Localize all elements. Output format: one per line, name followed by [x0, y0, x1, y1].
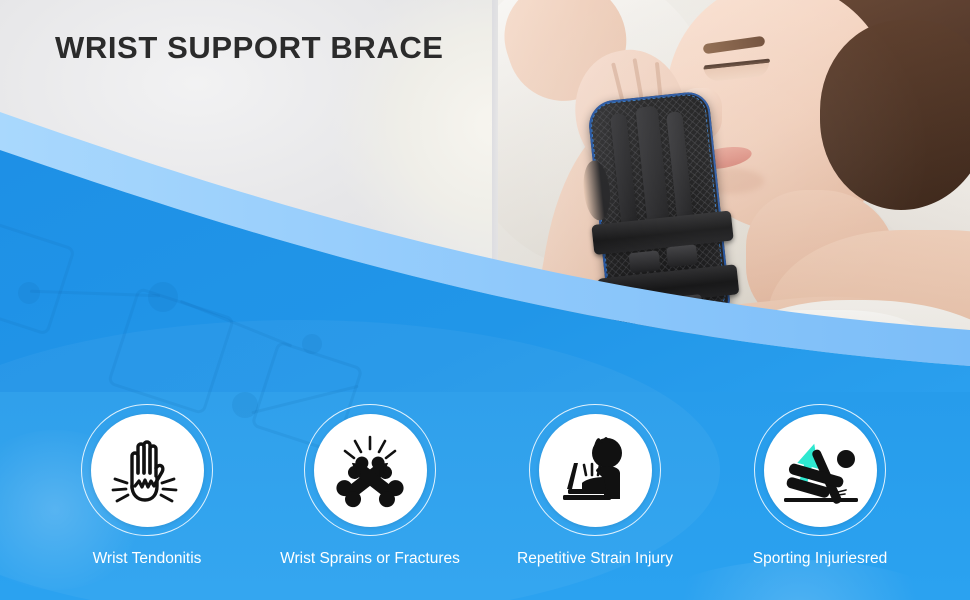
feature-item-wrist-sprains[interactable]: Wrist Sprains or Fractures [258, 404, 482, 568]
feature-label-1: Wrist Tendonitis [35, 550, 259, 568]
hand-pain-icon [105, 428, 189, 512]
feature-disc-4 [764, 414, 877, 527]
feature-ring-3 [529, 404, 661, 536]
person-at-laptop-icon [552, 427, 638, 513]
molecule-node-4 [302, 334, 322, 354]
feature-label-2: Wrist Sprains or Fractures [258, 550, 482, 568]
feature-disc-1 [91, 414, 204, 527]
feature-row: Wrist Tendonitis [0, 398, 970, 600]
feature-ring-1 [81, 404, 213, 536]
falling-athlete-icon [776, 426, 864, 514]
woman-sleeping-photo [498, 0, 970, 380]
feature-item-wrist-tendonitis[interactable]: Wrist Tendonitis [35, 404, 259, 568]
feature-ring-4 [754, 404, 886, 536]
molecule-node-1 [18, 282, 40, 304]
feature-item-repetitive-strain[interactable]: Repetitive Strain Injury [483, 404, 707, 568]
feature-item-sporting-injuries[interactable]: Sporting Injuriesred [708, 404, 932, 568]
photo-vignette [498, 0, 970, 380]
feature-label-4: Sporting Injuriesred [708, 550, 932, 568]
page-title: WRIST SUPPORT BRACE [55, 30, 444, 66]
feature-label-3: Repetitive Strain Injury [483, 550, 707, 568]
product-banner: WRIST SUPPORT BRACE [0, 0, 970, 600]
feature-disc-3 [539, 414, 652, 527]
feature-disc-2 [314, 414, 427, 527]
broken-bone-icon [327, 427, 413, 513]
feature-ring-2 [304, 404, 436, 536]
